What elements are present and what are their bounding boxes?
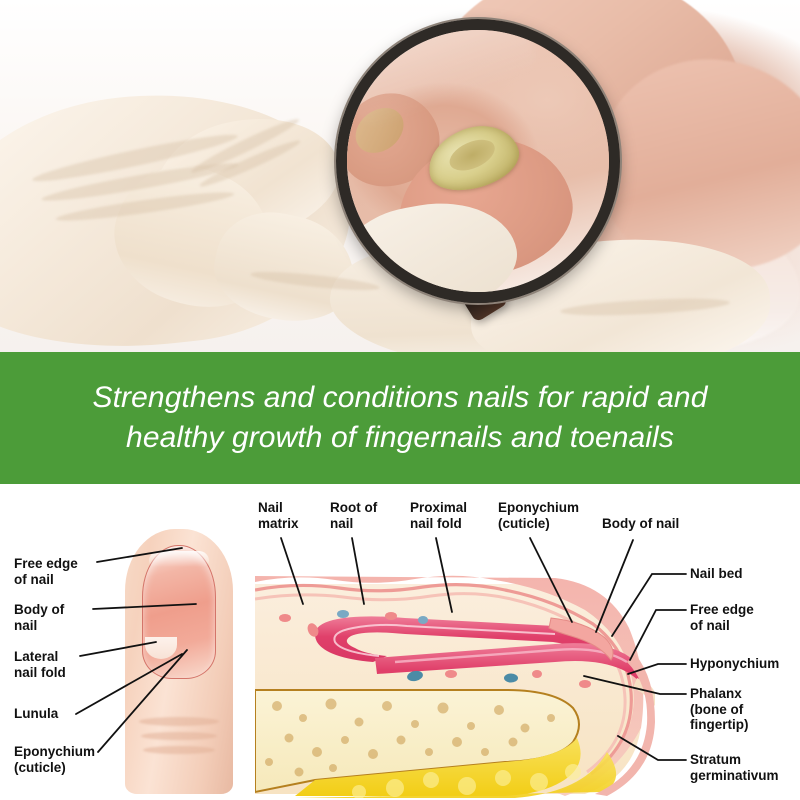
leader-hyponychium: [628, 664, 686, 674]
label-hyponychium: Hyponychium: [690, 656, 800, 672]
product-infographic: Strengthens and conditions nails for rap…: [0, 0, 800, 800]
leader-proximal-fold: [436, 538, 452, 612]
label-eponychium-cuticle-top: Eponychium (cuticle): [498, 500, 602, 531]
tagline-line-1: Strengthens and conditions nails for rap…: [93, 378, 708, 418]
nail-anatomy-diagram: Free edge of nail Body of nail Lateral n…: [0, 484, 800, 800]
leader-eponychium-top: [530, 538, 572, 622]
leader-nail-bed: [612, 574, 686, 636]
label-body-of-nail-top: Body of nail: [602, 516, 706, 532]
leader-stratum: [618, 736, 686, 760]
tagline-banner: Strengthens and conditions nails for rap…: [0, 352, 800, 484]
leader-root-of-nail: [352, 538, 364, 604]
label-phalanx: Phalanx (bone of fingertip): [690, 686, 796, 733]
tagline-line-2: healthy growth of fingernails and toenai…: [126, 418, 674, 458]
label-eponychium-cuticle: Eponychium (cuticle): [14, 744, 124, 775]
label-stratum-germinativum: Stratum germinativum: [690, 752, 800, 783]
label-free-edge-of-nail-right: Free edge of nail: [690, 602, 798, 633]
label-body-of-nail: Body of nail: [14, 602, 114, 633]
label-nail-matrix: Nail matrix: [258, 500, 330, 531]
leader-body-of-nail-top: [596, 540, 633, 632]
magnifying-glass: [336, 19, 620, 303]
label-lateral-nail-fold: Lateral nail fold: [14, 649, 114, 680]
leader-free-edge-right: [630, 610, 686, 660]
label-proximal-nail-fold: Proximal nail fold: [410, 500, 498, 531]
clinical-photo: [0, 0, 800, 352]
leader-nail-matrix: [281, 538, 303, 604]
label-nail-bed: Nail bed: [690, 566, 798, 582]
label-free-edge-of-nail: Free edge of nail: [14, 556, 114, 587]
label-lunula: Lunula: [14, 706, 114, 722]
leader-phalanx: [584, 676, 686, 694]
label-root-of-nail: Root of nail: [330, 500, 404, 531]
